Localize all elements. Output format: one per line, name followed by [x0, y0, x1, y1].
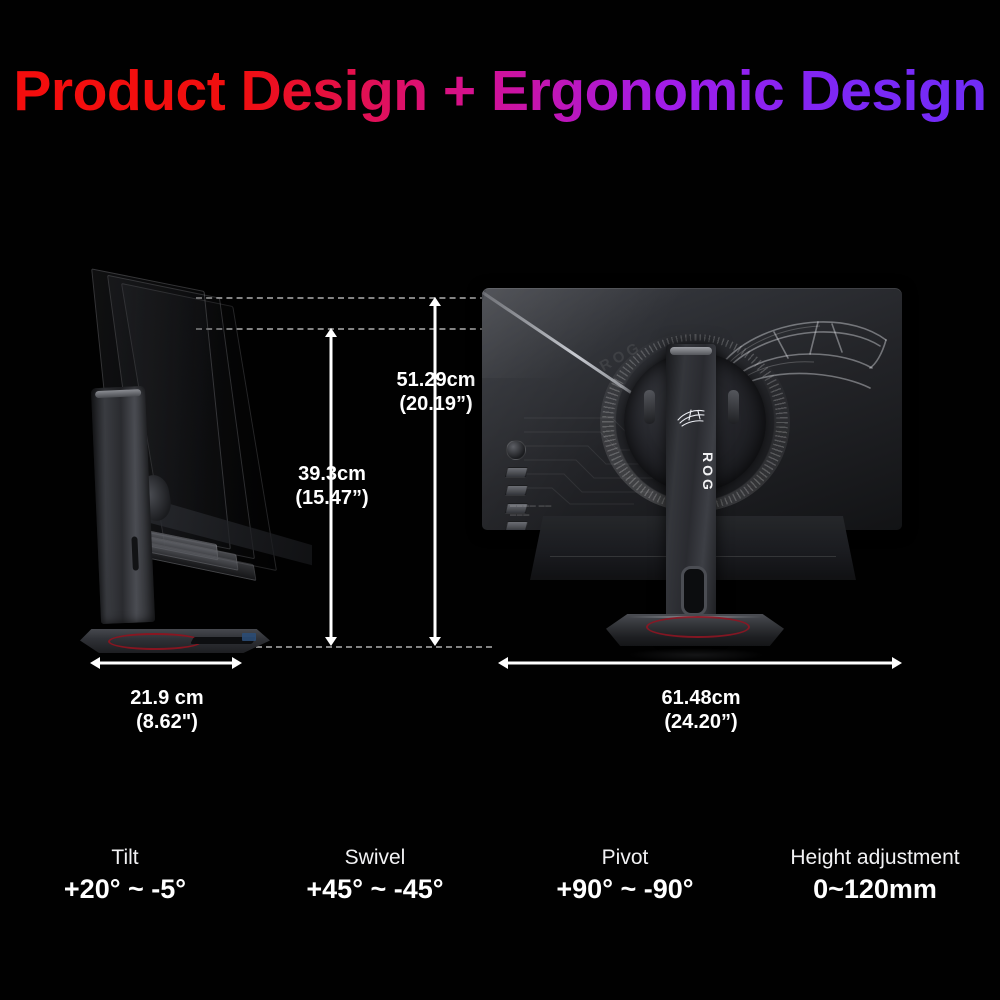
joystick-button-icon[interactable] — [506, 440, 526, 460]
width-imperial: (24.20”) — [640, 710, 762, 734]
spec-pivot: Pivot +90° ~ -90° — [500, 845, 750, 908]
stand-column-cap — [670, 347, 712, 355]
height-retracted-metric: 39.3cm — [298, 463, 366, 485]
monitor-rear-view: ROG — [478, 288, 908, 650]
spec-pivot-label: Pivot — [500, 845, 750, 871]
stand-rog-eye-icon — [676, 406, 706, 428]
height-extended-metric: 51.29cm — [397, 369, 476, 391]
vesa-clip-right — [728, 390, 739, 424]
spec-swivel: Swivel +45° ~ -45° — [250, 845, 500, 908]
spec-swivel-label: Swivel — [250, 845, 500, 871]
spec-tilt-value: +20° ~ -5° — [0, 871, 250, 907]
width-metric: 61.48cm — [662, 687, 741, 709]
rear-stand-base — [606, 606, 784, 650]
stand-column-rog-label: ROG — [666, 452, 716, 493]
height-retracted-label: 39.3cm (15.47”) — [282, 462, 382, 511]
height-extended-imperial: (20.19”) — [380, 392, 492, 416]
spec-height-adjustment: Height adjustment 0~120mm — [750, 845, 1000, 908]
spec-height-label: Height adjustment — [750, 845, 1000, 871]
spec-tilt: Tilt +20° ~ -5° — [0, 845, 250, 908]
depth-label: 21.9 cm (8.62") — [106, 686, 228, 735]
spec-height-value: 0~120mm — [750, 871, 1000, 907]
spec-swivel-value: +45° ~ -45° — [250, 871, 500, 907]
rear-base-accent-ring — [646, 616, 750, 638]
page-title: Product Design + Ergonomic Design — [0, 62, 1000, 122]
infographic-stage: Product Design + Ergonomic Design 39.3cm… — [0, 0, 1000, 1000]
height-extended-label: 51.29cm (20.19”) — [380, 368, 492, 417]
height-retracted-imperial: (15.47”) — [282, 486, 382, 510]
side-base-badge — [242, 633, 256, 641]
monitor-side-view — [80, 275, 300, 660]
control-button-2[interactable] — [505, 485, 529, 496]
depth-arrow — [90, 654, 242, 672]
ergonomics-spec-row: Tilt +20° ~ -5° Swivel +45° ~ -45° Pivot… — [0, 845, 1000, 908]
vesa-clip-left — [644, 390, 655, 424]
depth-imperial: (8.62") — [106, 710, 228, 734]
side-base-accent-ring — [108, 633, 202, 650]
side-stand-column — [91, 386, 155, 624]
control-button-4[interactable] — [505, 521, 529, 530]
height-extended-arrow — [426, 297, 444, 646]
side-stand-base — [80, 615, 270, 657]
control-button-1[interactable] — [505, 467, 529, 478]
width-label: 61.48cm (24.20”) — [640, 686, 762, 735]
rear-stand-column: ROG — [666, 344, 716, 634]
width-arrow — [498, 654, 902, 672]
spec-pivot-value: +90° ~ -90° — [500, 871, 750, 907]
depth-metric: 21.9 cm — [130, 687, 203, 709]
spec-tilt-label: Tilt — [0, 845, 250, 871]
